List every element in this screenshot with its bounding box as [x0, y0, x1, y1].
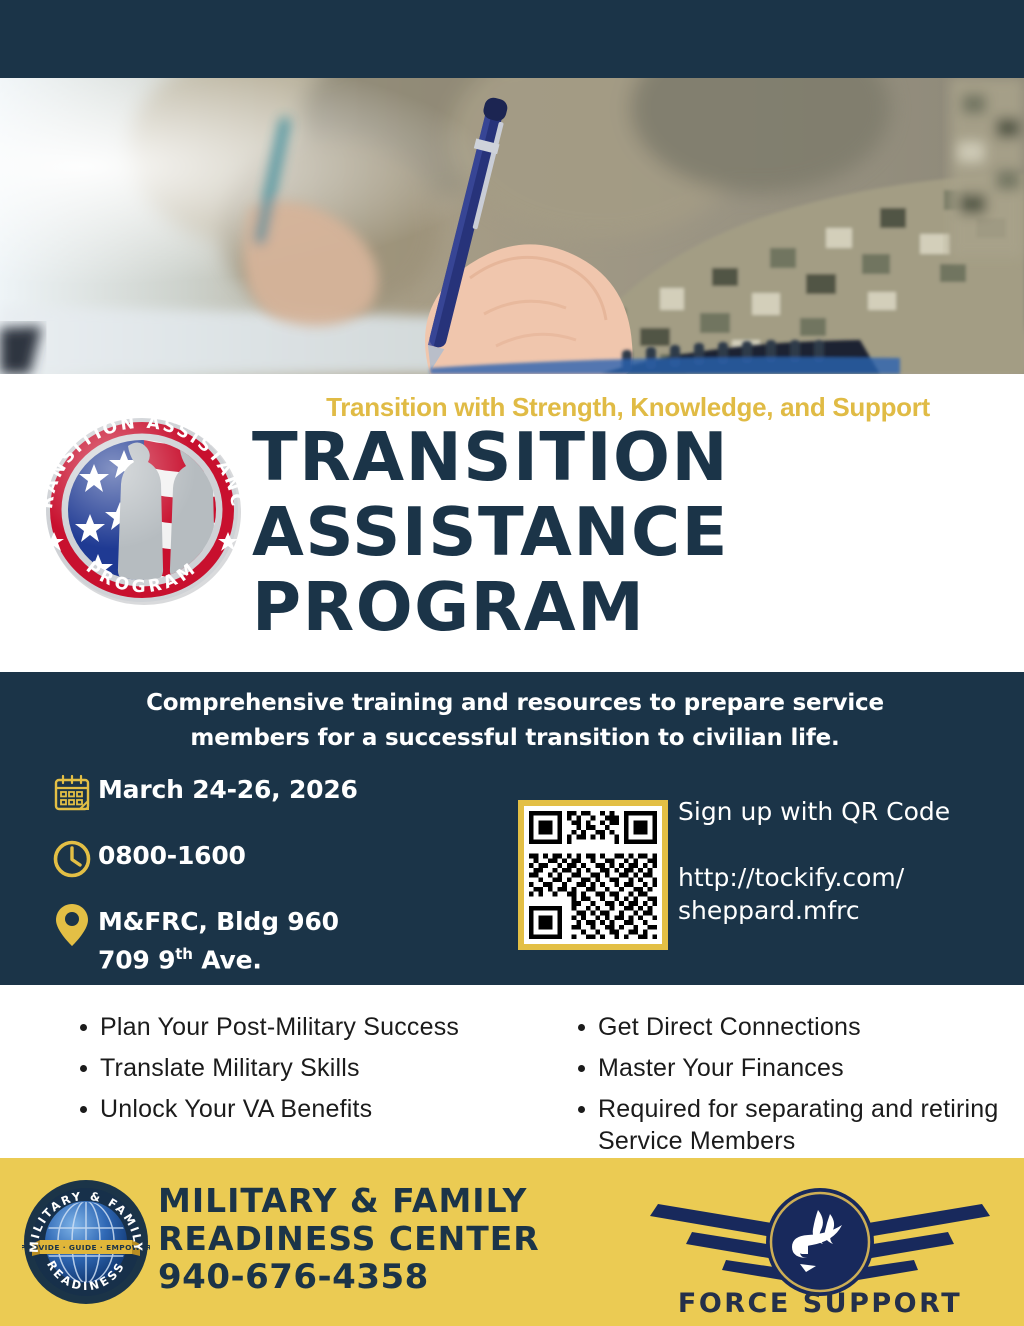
- headline-line-2: ASSISTANCE: [252, 495, 1012, 570]
- signup-url-line-1: http://tockify.com/: [678, 863, 904, 892]
- headline-line-1: TRANSITION: [252, 420, 1012, 495]
- qr-instructions: Sign up with QR Code http://tockify.com/…: [678, 798, 1008, 927]
- detail-row-date: March 24-26, 2026: [46, 768, 506, 818]
- program-description-line-1: Comprehensive training and resources to …: [146, 690, 884, 716]
- location-pin-icon: [46, 900, 98, 950]
- list-item: Translate Military Skills: [72, 1052, 552, 1084]
- tap-seal-logo: TRANSITION ASSISTANCE PROGRAM: [28, 410, 256, 610]
- headline-line-3: PROGRAM: [252, 570, 1012, 645]
- mfrc-contact-block: MILITARY & FAMILY READINESS CENTER 940-6…: [158, 1182, 540, 1296]
- event-details-list: March 24-26, 2026 0800-1600: [46, 768, 506, 992]
- page-title: TRANSITION ASSISTANCE PROGRAM: [252, 420, 1012, 645]
- list-item: Required for separating and retiring Ser…: [570, 1093, 1010, 1157]
- signup-url[interactable]: http://tockify.com/ sheppard.mfrc: [678, 861, 1008, 927]
- list-item: Unlock Your VA Benefits: [72, 1093, 552, 1125]
- force-support-label: FORCE SUPPORT: [678, 1288, 962, 1319]
- list-item: Get Direct Connections: [570, 1011, 1010, 1043]
- calendar-icon: [46, 768, 98, 818]
- mfrc-org-line-2: READINESS CENTER: [158, 1219, 540, 1258]
- benefits-column-right: Get Direct Connections Master Your Finan…: [570, 1011, 1010, 1166]
- footer-bar: PROVIDE · GUIDE · EMPOWER MILITARY & FAM…: [0, 1158, 1024, 1326]
- detail-location-line-1: M&FRC, Bldg 960: [98, 907, 339, 936]
- detail-location-line-2: 709 9th Ave.: [98, 938, 339, 976]
- force-support-logo: FORCE SUPPORT: [640, 1170, 1000, 1320]
- mfrc-seal-logo: PROVIDE · GUIDE · EMPOWER MILITARY & FAM…: [22, 1178, 150, 1306]
- top-navy-strip: [0, 0, 1024, 78]
- program-description: Comprehensive training and resources to …: [60, 686, 970, 756]
- mfrc-phone[interactable]: 940-676-4358: [158, 1258, 540, 1296]
- detail-row-location: M&FRC, Bldg 960 709 9th Ave.: [46, 900, 506, 976]
- detail-row-time: 0800-1600: [46, 834, 506, 884]
- detail-date-text: March 24-26, 2026: [98, 768, 358, 806]
- mfrc-seal-banner-text: PROVIDE · GUIDE · EMPOWER: [22, 1243, 150, 1252]
- mfrc-org-line-1: MILITARY & FAMILY: [158, 1181, 527, 1220]
- qr-code[interactable]: [518, 800, 668, 950]
- qr-code-image: [524, 806, 662, 944]
- benefits-section: Plan Your Post-Military Success Translat…: [0, 985, 1024, 1158]
- qr-label: Sign up with QR Code: [678, 797, 950, 826]
- program-description-line-2: members for a successful transition to c…: [190, 725, 839, 751]
- info-band: Comprehensive training and resources to …: [0, 672, 1024, 985]
- title-block: TRANSITION ASSISTANCE PROGRAM Transition…: [0, 374, 1024, 672]
- clock-icon: [46, 834, 98, 884]
- flyer-page: TRANSITION ASSISTANCE PROGRAM Transition…: [0, 0, 1024, 1326]
- detail-location-text: M&FRC, Bldg 960 709 9th Ave.: [98, 900, 339, 976]
- hero-photo: [0, 78, 1024, 374]
- benefits-column-left: Plan Your Post-Military Success Translat…: [72, 1011, 552, 1134]
- signup-url-line-2: sheppard.mfrc: [678, 896, 860, 925]
- list-item: Master Your Finances: [570, 1052, 1010, 1084]
- list-item: Plan Your Post-Military Success: [72, 1011, 552, 1043]
- hero-photo-illustration: [0, 78, 1024, 374]
- detail-time-text: 0800-1600: [98, 834, 246, 872]
